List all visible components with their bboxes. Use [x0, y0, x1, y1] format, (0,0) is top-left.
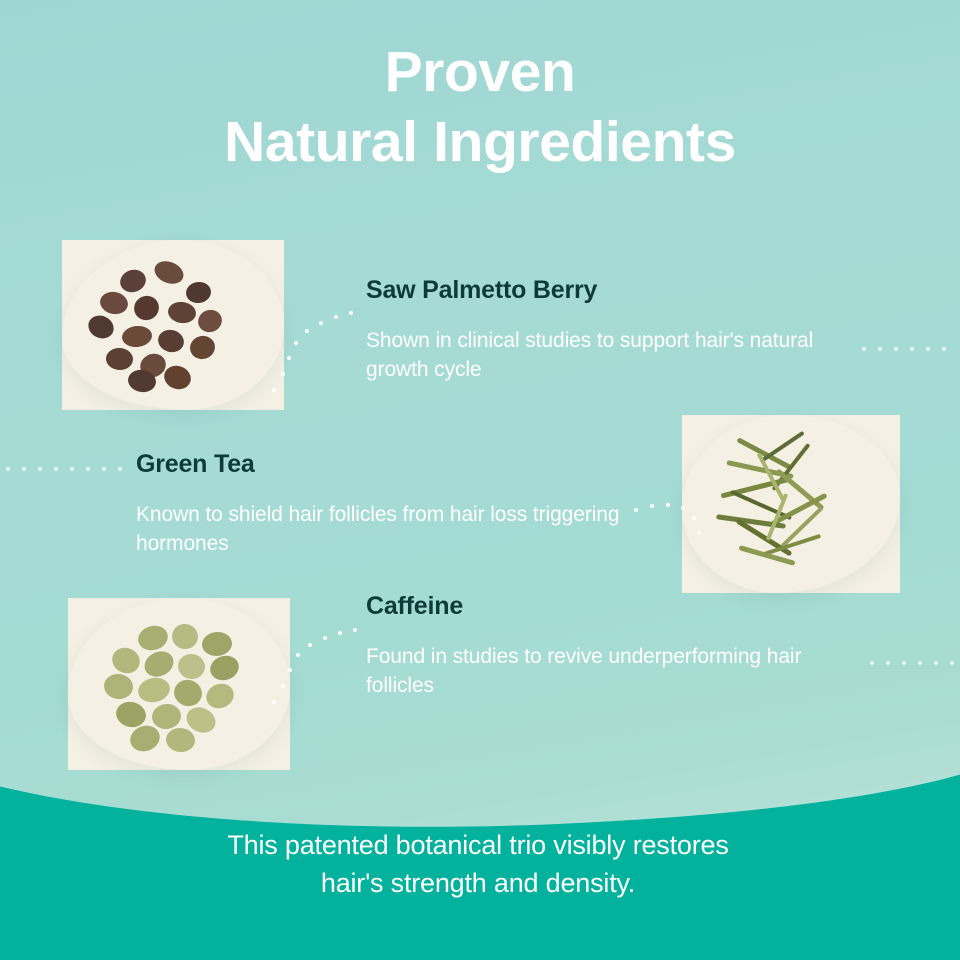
ingredient-name: Green Tea: [136, 450, 626, 479]
banner-line-2: hair's strength and density.: [0, 864, 958, 902]
green-tea-leaves-photo: [682, 415, 900, 593]
tea-leaf-cluster: [682, 415, 900, 593]
title-line-2: Natural Ingredients: [0, 108, 960, 178]
green-coffee-beans-photo: [68, 598, 290, 770]
ingredient-description: Found in studies to revive underperformi…: [366, 643, 866, 701]
bottom-banner: This patented botanical trio visibly res…: [0, 764, 960, 960]
title-line-1: Proven: [0, 38, 960, 108]
ingredients-infographic: Proven Natural Ingredients: [0, 0, 960, 960]
banner-text: This patented botanical trio visibly res…: [0, 826, 958, 903]
coffee-bean-cluster: [68, 598, 290, 770]
ingredient-description: Shown in clinical studies to support hai…: [366, 327, 836, 385]
ingredient-caffeine: Caffeine Found in studies to revive unde…: [366, 592, 866, 701]
ingredient-name: Saw Palmetto Berry: [366, 276, 836, 305]
ingredient-description: Known to shield hair follicles from hair…: [136, 501, 626, 559]
ingredient-saw-palmetto-berry: Saw Palmetto Berry Shown in clinical stu…: [366, 276, 836, 385]
berry-cluster: [62, 240, 284, 410]
ingredient-name: Caffeine: [366, 592, 866, 621]
page-title: Proven Natural Ingredients: [0, 38, 960, 177]
ingredient-green-tea: Green Tea Known to shield hair follicles…: [136, 450, 626, 559]
saw-palmetto-berries-photo: [62, 240, 284, 410]
banner-line-1: This patented botanical trio visibly res…: [0, 826, 958, 864]
